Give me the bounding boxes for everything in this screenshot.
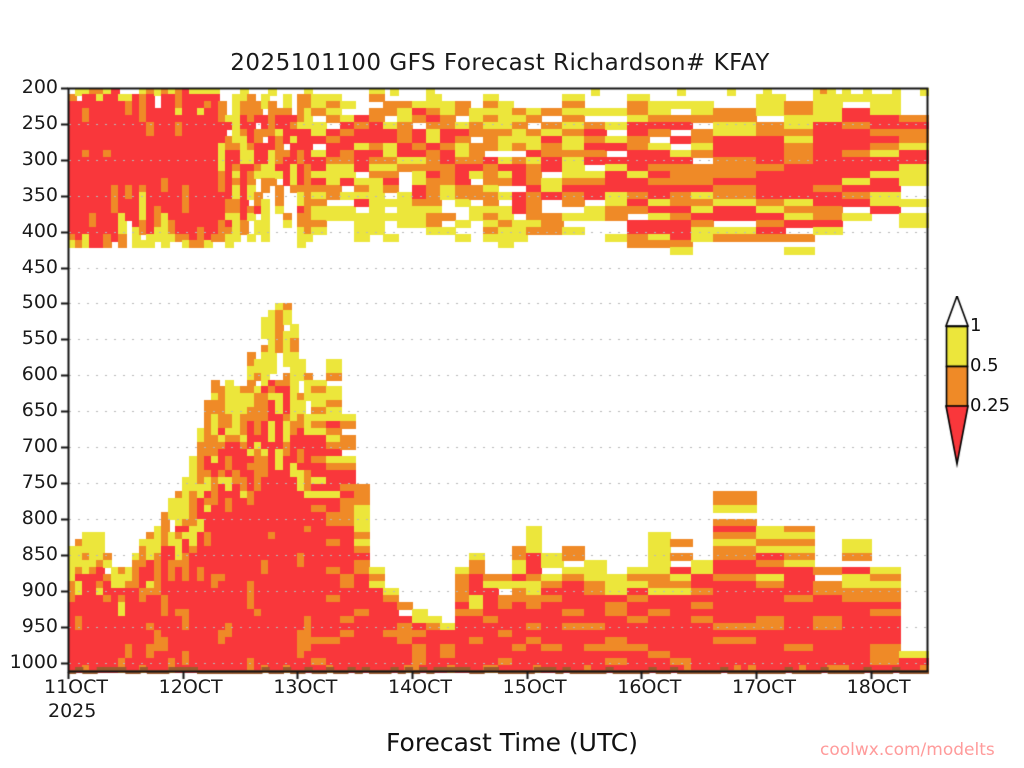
x-axis-tick-16OCT: 16OCT [617, 678, 681, 697]
chart-root: 2025101100 GFS Forecast Richardson# KFAY… [0, 0, 1024, 768]
colorbar-tick-0.25: 0.25 [970, 397, 1010, 415]
y-axis-tick-750: 750 [0, 473, 58, 492]
x-axis-tick-17OCT: 17OCT [732, 678, 796, 697]
watermark-link[interactable]: coolwx.com/modelts [820, 740, 995, 760]
y-axis-tick-700: 700 [0, 437, 58, 456]
colorbar-tick-0.5: 0.5 [970, 357, 999, 375]
richardson-number-heatmap [0, 0, 1024, 768]
y-axis-tick-850: 850 [0, 545, 58, 564]
y-axis-tick-1000: 1000 [0, 653, 58, 672]
x-axis-tick-12OCT: 12OCT [159, 678, 223, 697]
y-axis-tick-950: 950 [0, 617, 58, 636]
colorbar: 10.50.25 [938, 296, 1024, 482]
y-axis-tick-300: 300 [0, 150, 58, 169]
x-axis-tick-14OCT: 14OCT [388, 678, 452, 697]
y-axis-tick-550: 550 [0, 329, 58, 348]
y-axis-tick-400: 400 [0, 222, 58, 241]
colorbar-tick-1: 1 [970, 317, 981, 335]
y-axis-tick-250: 250 [0, 114, 58, 133]
y-axis-tick-900: 900 [0, 581, 58, 600]
x-axis-year-label: 2025 [48, 700, 96, 722]
y-axis-tick-350: 350 [0, 186, 58, 205]
y-axis-tick-800: 800 [0, 509, 58, 528]
y-axis-tick-200: 200 [0, 78, 58, 97]
y-axis-tick-450: 450 [0, 258, 58, 277]
y-axis-tick-500: 500 [0, 293, 58, 312]
x-axis-tick-11OCT: 11OCT [44, 678, 108, 697]
y-axis-tick-650: 650 [0, 401, 58, 420]
y-axis-tick-600: 600 [0, 365, 58, 384]
x-axis-tick-15OCT: 15OCT [503, 678, 567, 697]
x-axis-tick-18OCT: 18OCT [847, 678, 911, 697]
x-axis-tick-13OCT: 13OCT [273, 678, 337, 697]
